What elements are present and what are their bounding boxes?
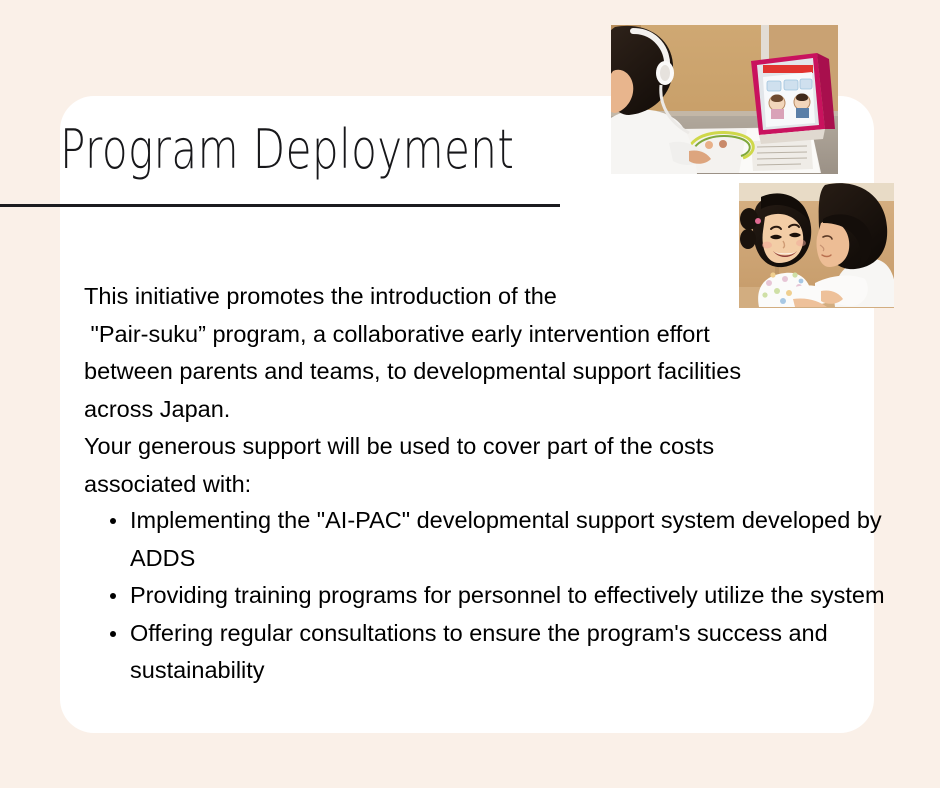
list-item: Implementing the "AI-PAC" developmental … xyxy=(110,502,910,577)
slide-canvas: Program Deployment This initiative promo… xyxy=(0,0,940,788)
photo-tablet xyxy=(611,25,838,174)
body-copy: This initiative promotes the introductio… xyxy=(84,278,904,503)
list-item: Offering regular consultations to ensure… xyxy=(110,615,910,690)
list-item: Providing training programs for personne… xyxy=(110,577,910,615)
photo-tablet-artwork xyxy=(611,25,838,174)
page-title: Program Deployment xyxy=(60,110,544,190)
title-divider xyxy=(0,204,560,207)
body-paragraph-1: This initiative promotes the introductio… xyxy=(84,278,904,428)
bullet-list: Implementing the "AI-PAC" developmental … xyxy=(110,502,910,690)
body-paragraph-2: Your generous support will be used to co… xyxy=(84,428,904,503)
